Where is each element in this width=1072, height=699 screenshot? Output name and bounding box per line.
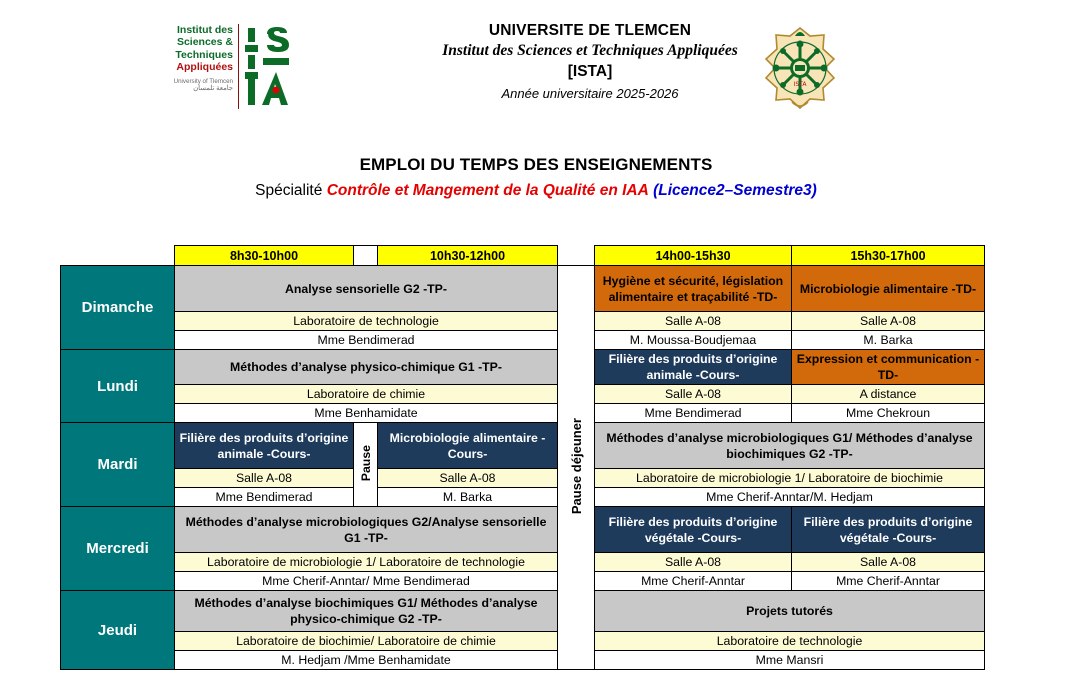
session-teacher: M. Barka: [792, 331, 985, 350]
table-row: Mme Bendimerad M. Barka Mme Cherif-Annta…: [61, 488, 985, 507]
timetable-page: Institut des Sciences & Techniques Appli…: [0, 0, 1072, 699]
table-row: M. Hedjam /Mme Benhamidate Mme Mansri: [61, 651, 985, 670]
session-subject: Filière des produits d’origine végétale …: [792, 507, 985, 553]
session-teacher: Mme Benhamidate: [175, 404, 558, 423]
session-room: Salle A-08: [175, 469, 354, 488]
table-row: Mme Cherif-Anntar/ Mme Bendimerad Mme Ch…: [61, 572, 985, 591]
session-room: Salle A-08: [792, 312, 985, 331]
session-teacher: Mme Chekroun: [792, 404, 985, 423]
speciality-line: Spécialité Contrôle et Mangement de la Q…: [0, 182, 1072, 200]
session-room: Laboratoire de technologie: [595, 632, 985, 651]
session-subject: Analyse sensorielle G2 -TP-: [175, 266, 558, 312]
session-subject: Expression et communication -TD-: [792, 350, 985, 385]
session-subject: Méthodes d’analyse microbiologiques G2/A…: [175, 507, 558, 553]
session-subject: Microbiologie alimentaire -Cours-: [378, 423, 558, 469]
session-teacher: M. Barka: [378, 488, 558, 507]
session-room: Salle A-08: [378, 469, 558, 488]
session-subject: Méthodes d’analyse microbiologiques G1/ …: [595, 423, 985, 469]
university-emblem-icon: ISTA: [762, 26, 838, 110]
time-slot-1: 8h30-10h00: [175, 246, 354, 266]
table-row: Mardi Filière des produits d’origine ani…: [61, 423, 985, 469]
timetable-header-row: 8h30-10h00 10h30-12h00 14h00-15h30 15h30…: [61, 246, 985, 266]
pause-label: Pause: [354, 423, 378, 507]
subtitle-block: EMPLOI DU TEMPS DES ENSEIGNEMENTS Spécia…: [0, 155, 1072, 200]
ista-logo: Institut des Sciences & Techniques Appli…: [160, 24, 305, 109]
session-subject: Filière des produits d’origine végétale …: [595, 507, 792, 553]
ista-monogram-icon: [245, 24, 305, 109]
session-subject: Filière des produits d’origine animale -…: [175, 423, 354, 469]
table-row: Mme Bendimerad M. Moussa-Boudjemaa M. Ba…: [61, 331, 985, 350]
page-title: EMPLOI DU TEMPS DES ENSEIGNEMENTS: [0, 155, 1072, 175]
table-row: Laboratoire de microbiologie 1/ Laborato…: [61, 553, 985, 572]
session-teacher: Mme Bendimerad: [175, 331, 558, 350]
speciality-level: (Licence2–Semestre3): [653, 182, 817, 199]
table-row: Salle A-08 Salle A-08 Laboratoire de mic…: [61, 469, 985, 488]
session-teacher: M. Hedjam /Mme Benhamidate: [175, 651, 558, 670]
session-room: A distance: [792, 385, 985, 404]
time-slot-2: 10h30-12h00: [378, 246, 558, 266]
session-subject: Hygiène et sécurité, législation aliment…: [595, 266, 792, 312]
table-row: Laboratoire de chimie Salle A-08 A dista…: [61, 385, 985, 404]
day-label-dimanche: Dimanche: [61, 266, 175, 350]
ista-logo-university: University of Tlemcen: [160, 78, 233, 86]
session-room: Laboratoire de biochimie/ Laboratoire de…: [175, 632, 558, 651]
session-teacher: Mme Cherif-Anntar/ Mme Bendimerad: [175, 572, 558, 591]
ista-logo-line-4: Appliquées: [160, 61, 233, 73]
ista-logo-text: Institut des Sciences & Techniques Appli…: [160, 24, 239, 109]
time-slot-4: 15h30-17h00: [792, 246, 985, 266]
timetable: 8h30-10h00 10h30-12h00 14h00-15h30 15h30…: [60, 245, 985, 670]
ista-logo-arabic: جامعة تلمسان: [160, 85, 233, 93]
session-teacher: M. Moussa-Boudjemaa: [595, 331, 792, 350]
session-teacher: Mme Cherif-Anntar: [595, 572, 792, 591]
table-row: Dimanche Analyse sensorielle G2 -TP- Pau…: [61, 266, 985, 312]
session-teacher: Mme Bendimerad: [595, 404, 792, 423]
session-room: Salle A-08: [595, 312, 792, 331]
pause-header-blank: [354, 246, 378, 266]
session-room: Salle A-08: [595, 553, 792, 572]
session-subject: Projets tutorés: [595, 591, 985, 632]
session-teacher: Mme Cherif-Anntar: [792, 572, 985, 591]
document-header: Institut des Sciences & Techniques Appli…: [0, 0, 1072, 130]
day-label-lundi: Lundi: [61, 350, 175, 423]
svg-text:ISTA: ISTA: [794, 81, 808, 88]
session-teacher: Mme Bendimerad: [175, 488, 354, 507]
session-room: Salle A-08: [792, 553, 985, 572]
table-row: Laboratoire de technologie Salle A-08 Sa…: [61, 312, 985, 331]
session-room: Laboratoire de microbiologie 1/ Laborato…: [175, 553, 558, 572]
corner-blank: [61, 246, 175, 266]
ista-logo-line-1: Institut des: [160, 24, 233, 36]
table-row: Jeudi Méthodes d’analyse biochimiques G1…: [61, 591, 985, 632]
lunch-header-blank: [558, 246, 595, 266]
table-row: Laboratoire de biochimie/ Laboratoire de…: [61, 632, 985, 651]
table-row: Mercredi Méthodes d’analyse microbiologi…: [61, 507, 985, 553]
table-row: Lundi Méthodes d’analyse physico-chimiqu…: [61, 350, 985, 385]
table-row: Mme Benhamidate Mme Bendimerad Mme Chekr…: [61, 404, 985, 423]
speciality-name: Contrôle et Mangement de la Qualité en I…: [327, 182, 649, 199]
session-room: Laboratoire de microbiologie 1/ Laborato…: [595, 469, 985, 488]
session-teacher: Mme Mansri: [595, 651, 985, 670]
ista-logo-line-3: Techniques: [160, 49, 233, 61]
ista-logo-line-2: Sciences &: [160, 36, 233, 48]
session-subject: Filière des produits d’origine animale -…: [595, 350, 792, 385]
time-slot-3: 14h00-15h30: [595, 246, 792, 266]
session-room: Salle A-08: [595, 385, 792, 404]
pause-dejeuner-label: Pause déjeuner: [558, 266, 595, 670]
day-label-mercredi: Mercredi: [61, 507, 175, 591]
day-label-jeudi: Jeudi: [61, 591, 175, 670]
session-room: Laboratoire de technologie: [175, 312, 558, 331]
session-subject: Microbiologie alimentaire -TD-: [792, 266, 985, 312]
session-subject: Méthodes d’analyse biochimiques G1/ Méth…: [175, 591, 558, 632]
session-teacher: Mme Cherif-Anntar/M. Hedjam: [595, 488, 985, 507]
session-subject: Méthodes d’analyse physico-chimique G1 -…: [175, 350, 558, 385]
speciality-label: Spécialité: [255, 182, 322, 199]
day-label-mardi: Mardi: [61, 423, 175, 507]
session-room: Laboratoire de chimie: [175, 385, 558, 404]
